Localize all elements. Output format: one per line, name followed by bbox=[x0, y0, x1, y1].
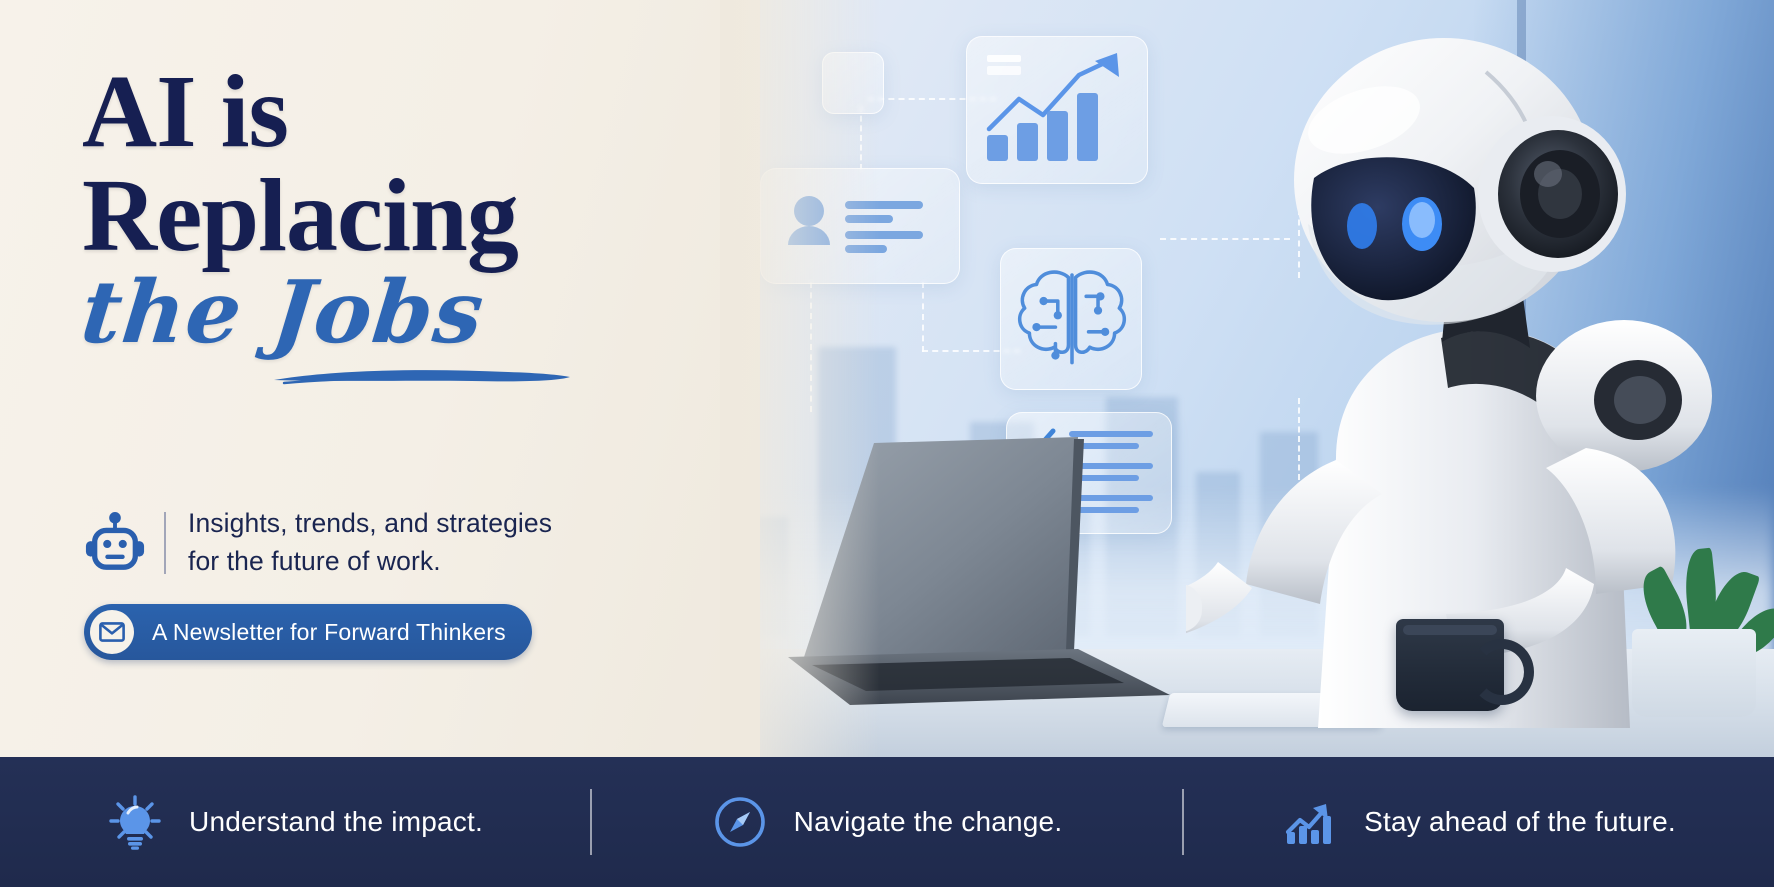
cta-label: A Newsletter for Forward Thinkers bbox=[152, 619, 506, 646]
footer-item-stay-ahead[interactable]: Stay ahead of the future. bbox=[1184, 794, 1774, 850]
compass-icon bbox=[712, 794, 768, 850]
footer-item-navigate[interactable]: Navigate the change. bbox=[592, 794, 1182, 850]
brush-stroke-underline bbox=[272, 366, 572, 386]
footer-item-understand[interactable]: Understand the impact. bbox=[0, 794, 590, 850]
hero-text-panel: AI is Replacing the Jobs bbox=[0, 0, 760, 757]
lightbulb-icon bbox=[107, 794, 163, 850]
coffee-mug bbox=[1396, 619, 1504, 711]
subtitle-text: Insights, trends, and strategies for the… bbox=[188, 505, 552, 580]
headline-script-line: the Jobs bbox=[77, 270, 488, 356]
headline-line-1: AI is bbox=[82, 62, 722, 162]
analytics-card bbox=[966, 36, 1148, 184]
circuit-brain-icon bbox=[1001, 249, 1143, 391]
newsletter-banner: AI is Replacing the Jobs bbox=[0, 0, 1774, 887]
subtitle-line-1: Insights, trends, and strategies bbox=[188, 505, 552, 543]
footer-label: Understand the impact. bbox=[189, 806, 483, 838]
value-prop-bar: Understand the impact. Navigate the chan… bbox=[0, 757, 1774, 887]
newsletter-cta-button[interactable]: A Newsletter for Forward Thinkers bbox=[84, 604, 532, 660]
footer-label: Stay ahead of the future. bbox=[1364, 806, 1676, 838]
ai-brain-card bbox=[1000, 248, 1142, 390]
robot-head-icon bbox=[84, 512, 146, 574]
page-title: AI is Replacing the Jobs bbox=[82, 62, 722, 378]
subtitle-divider bbox=[164, 512, 166, 574]
envelope-icon bbox=[90, 610, 134, 654]
subtitle-row: Insights, trends, and strategies for the… bbox=[84, 505, 552, 580]
growth-chart-icon bbox=[1282, 794, 1338, 850]
headline-line-2: Replacing bbox=[82, 166, 722, 266]
subtitle-line-2: for the future of work. bbox=[188, 543, 552, 581]
footer-label: Navigate the change. bbox=[794, 806, 1063, 838]
connector-line bbox=[922, 282, 924, 352]
bar-chart-growth-icon bbox=[967, 37, 1149, 185]
